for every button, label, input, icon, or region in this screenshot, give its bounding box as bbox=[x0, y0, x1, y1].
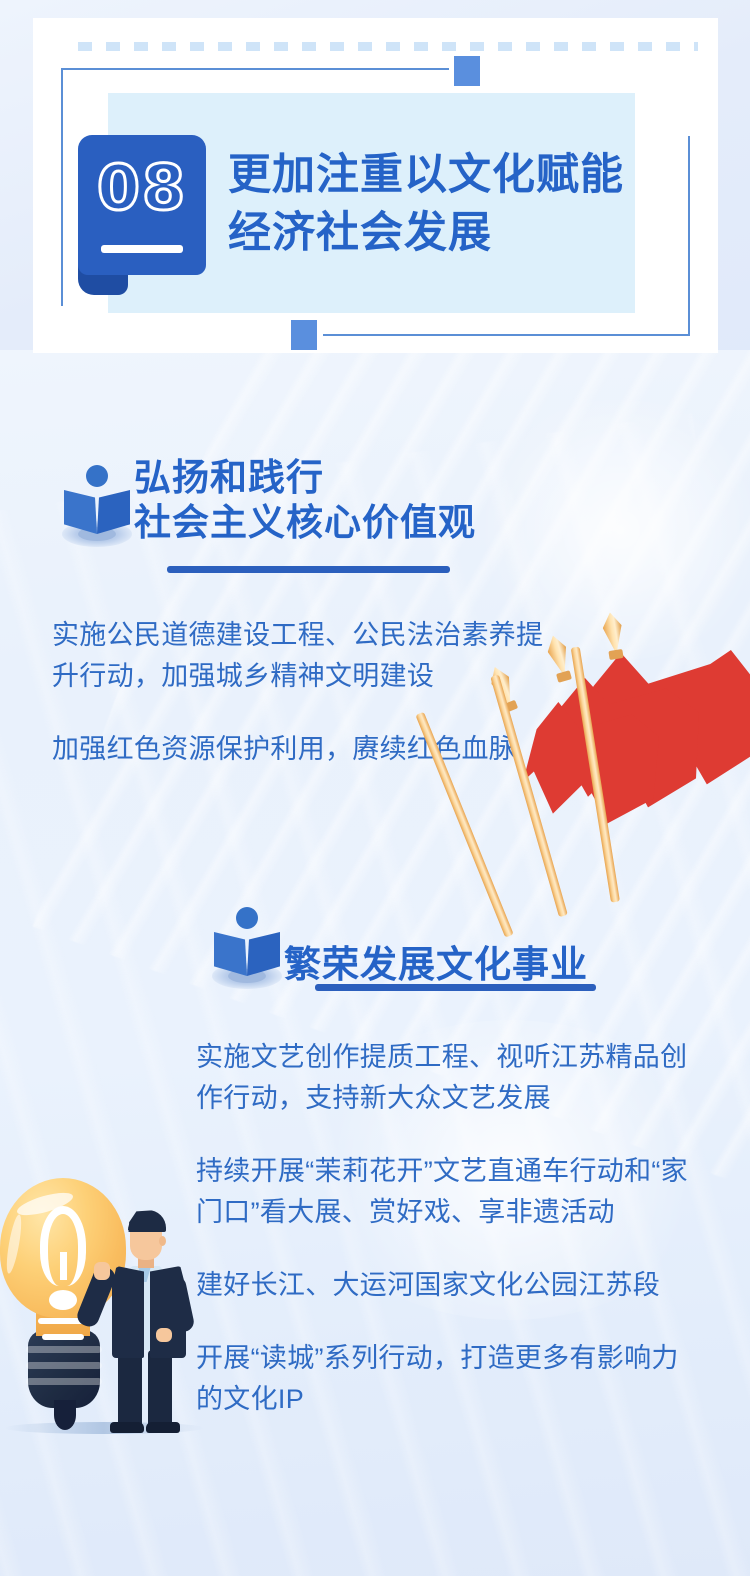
man-ear bbox=[159, 1236, 166, 1246]
man-right-shoe bbox=[146, 1422, 180, 1433]
frame-line-top bbox=[61, 68, 449, 70]
header-card: 08 更加注重以文化赋能 经济社会发展 bbox=[33, 18, 718, 353]
section-number-badge: 08 bbox=[78, 135, 206, 295]
section-rule bbox=[315, 984, 596, 991]
bulb-line bbox=[42, 1334, 84, 1340]
section-header-cultural: 繁荣发展文化事业 bbox=[210, 905, 588, 991]
body-paragraph: 实施文艺创作提质工程、视听江苏精品创作行动，支持新大众文艺发展 bbox=[196, 1037, 702, 1119]
body-paragraph: 加强红色资源保护利用，赓续红色血脉 bbox=[52, 729, 552, 770]
bulb-base-ring bbox=[26, 1346, 102, 1353]
section-header-core-values: 弘扬和践行 社会主义核心价值观 bbox=[60, 455, 476, 549]
man-right-hand bbox=[156, 1328, 172, 1342]
section-body-cultural: 实施文艺创作提质工程、视听江苏精品创作行动，支持新大众文艺发展 持续开展“茉莉花… bbox=[196, 1037, 702, 1420]
bulb-base-ring bbox=[26, 1362, 102, 1369]
dashed-strip-decoration bbox=[78, 42, 698, 51]
badge-body: 08 bbox=[78, 135, 206, 275]
frame-line-left bbox=[61, 68, 63, 306]
body-paragraph: 实施公民道德建设工程、公民法治素养提升行动，加强城乡精神文明建设 bbox=[52, 615, 552, 697]
section-rule bbox=[167, 566, 450, 573]
section-heading: 弘扬和践行 社会主义核心价值观 bbox=[134, 455, 476, 549]
man-jacket-left bbox=[112, 1266, 144, 1358]
page-title: 更加注重以文化赋能 经济社会发展 bbox=[228, 146, 708, 262]
man-left-leg bbox=[118, 1350, 142, 1426]
man-hair bbox=[126, 1210, 166, 1232]
bulb-highlight-dot bbox=[49, 1290, 77, 1310]
book-reader-icon bbox=[60, 463, 134, 549]
frame-line-bottom bbox=[323, 334, 690, 336]
bulb-base bbox=[28, 1330, 100, 1408]
man-left-shoe bbox=[110, 1422, 144, 1433]
reader-head bbox=[236, 907, 258, 929]
body-paragraph: 持续开展“茉莉花开”文艺直通车行动和“家门口”看大展、赏好戏、享非遗活动 bbox=[196, 1151, 702, 1233]
man-right-leg bbox=[148, 1350, 172, 1426]
badge-underline bbox=[101, 245, 183, 253]
infographic-page: 08 更加注重以文化赋能 经济社会发展 弘扬和践行 社会主义核心价值观 实施公民… bbox=[0, 0, 750, 1576]
bulb-filament-stem bbox=[60, 1252, 67, 1280]
reader-head bbox=[86, 465, 108, 487]
book-reader-icon bbox=[210, 905, 284, 991]
flag-ring-middle bbox=[556, 670, 572, 683]
square-accent-top bbox=[454, 56, 480, 86]
section-body-core-values: 实施公民道德建设工程、公民法治素养提升行动，加强城乡精神文明建设 加强红色资源保… bbox=[52, 615, 552, 770]
body-paragraph: 开展“读城”系列行动，打造更多有影响力的文化IP bbox=[196, 1338, 702, 1420]
red-flags-illustration bbox=[505, 640, 750, 930]
bulb-base-ring bbox=[26, 1378, 102, 1385]
bulb-tip bbox=[54, 1400, 76, 1430]
man-left-hand bbox=[94, 1262, 110, 1280]
lightbulb-businessman-illustration bbox=[0, 1178, 211, 1438]
businessman-figure bbox=[92, 1210, 204, 1434]
body-paragraph: 建好长江、大运河国家文化公园江苏段 bbox=[196, 1265, 702, 1306]
square-accent-bottom bbox=[291, 320, 317, 350]
badge-number: 08 bbox=[78, 149, 206, 227]
